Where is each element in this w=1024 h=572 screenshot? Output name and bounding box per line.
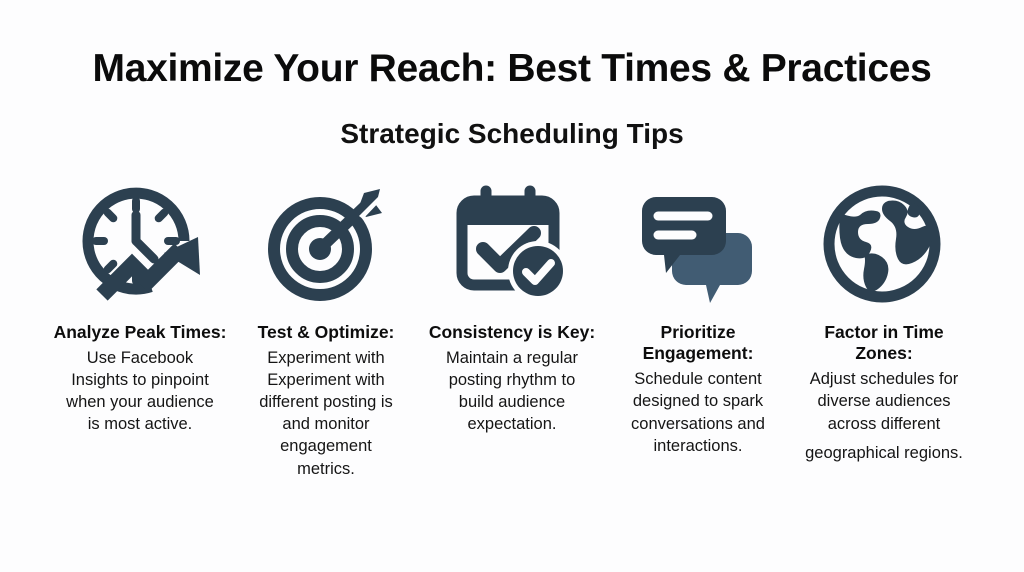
tip-body-line: different posting is	[259, 391, 393, 413]
tip-body-line: posting rhythm to	[446, 369, 578, 391]
tip-body-line: geographical regions.	[805, 442, 963, 464]
tip-column-consistency-is-key: Consistency is Key: Maintain a regular p…	[419, 180, 605, 436]
tip-body-line: Maintain a regular	[446, 347, 578, 369]
tip-body-line: Insights to pinpoint	[66, 369, 214, 391]
tip-body-line: expectation.	[446, 413, 578, 435]
tip-column-analyze-peak-times: Analyze Peak Times: Use Facebook Insight…	[47, 180, 233, 436]
tip-column-factor-in-time-zones: Factor in Time Zones: Adjust schedules f…	[791, 180, 977, 464]
tip-body-line: is most active.	[66, 413, 214, 435]
tip-body-line: metrics.	[259, 458, 393, 480]
tip-body-line: build audience	[446, 391, 578, 413]
tip-body-line: when your audience	[66, 391, 214, 413]
tip-body: Adjust schedules for diverse audiences a…	[803, 368, 965, 463]
tip-heading: Test & Optimize:	[254, 322, 399, 343]
calendar-check-icon	[450, 180, 574, 308]
page-subtitle: Strategic Scheduling Tips	[0, 91, 1024, 150]
clock-growth-arrow-icon	[76, 180, 204, 308]
tip-body-line: interactions.	[631, 435, 765, 457]
tip-body-line: Experiment with	[259, 347, 393, 369]
tip-heading: Prioritize Engagement:	[605, 322, 791, 365]
tip-body-line: across different	[805, 413, 963, 435]
globe-icon	[822, 180, 946, 308]
tips-columns: Analyze Peak Times: Use Facebook Insight…	[0, 180, 1024, 480]
tip-column-test-and-optimize: Test & Optimize: Experiment with Experim…	[233, 180, 419, 480]
tip-body-line: designed to spark	[631, 390, 765, 412]
tip-body-line: Schedule content	[631, 368, 765, 390]
tip-body-line: Adjust schedules for	[805, 368, 963, 390]
target-bullseye-arrow-icon	[264, 180, 388, 308]
tip-body: Maintain a regular posting rhythm to bui…	[444, 347, 580, 435]
tip-body-line: diverse audiences	[805, 390, 963, 412]
tip-body: Experiment with Experiment with differen…	[257, 347, 395, 480]
tip-body-line: and monitor	[259, 413, 393, 435]
tip-body: Use Facebook Insights to pinpoint when y…	[64, 347, 216, 435]
chat-bubbles-icon	[634, 180, 762, 308]
tip-heading: Analyze Peak Times:	[50, 322, 231, 343]
tip-body: Schedule content designed to spark conve…	[629, 368, 767, 456]
tip-heading: Factor in Time Zones:	[791, 322, 977, 365]
tip-body-line: Experiment with	[259, 369, 393, 391]
infographic-poster: Maximize Your Reach: Best Times & Practi…	[0, 0, 1024, 572]
tip-heading: Consistency is Key:	[425, 322, 599, 343]
page-title: Maximize Your Reach: Best Times & Practi…	[0, 0, 1024, 91]
tip-body-line: conversations and	[631, 413, 765, 435]
tip-column-prioritize-engagement: Prioritize Engagement: Schedule content …	[605, 180, 791, 457]
tip-body-line: Use Facebook	[66, 347, 214, 369]
tip-body-line: engagement	[259, 435, 393, 457]
